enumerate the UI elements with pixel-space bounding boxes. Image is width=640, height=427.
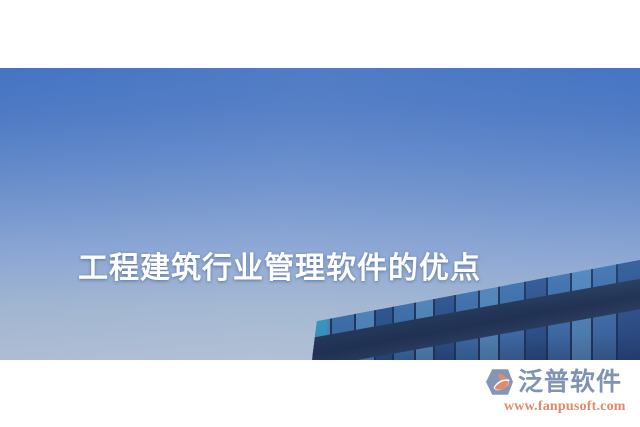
hero-banner-image: 工程建筑行业管理软件的优点 — [0, 68, 640, 360]
fanpu-logo-icon — [482, 366, 514, 398]
page-root: 工程建筑行业管理软件的优点 泛普软件 www.fanpusoft.com — [0, 0, 640, 427]
brand-logo[interactable]: 泛普软件 www.fanpusoft.com — [482, 366, 634, 418]
logo-row: 泛普软件 — [482, 366, 622, 398]
logo-website-url: www.fanpusoft.com — [504, 399, 626, 415]
logo-wordmark: 泛普软件 — [518, 366, 622, 398]
page-title: 工程建筑行业管理软件的优点 — [78, 254, 481, 284]
